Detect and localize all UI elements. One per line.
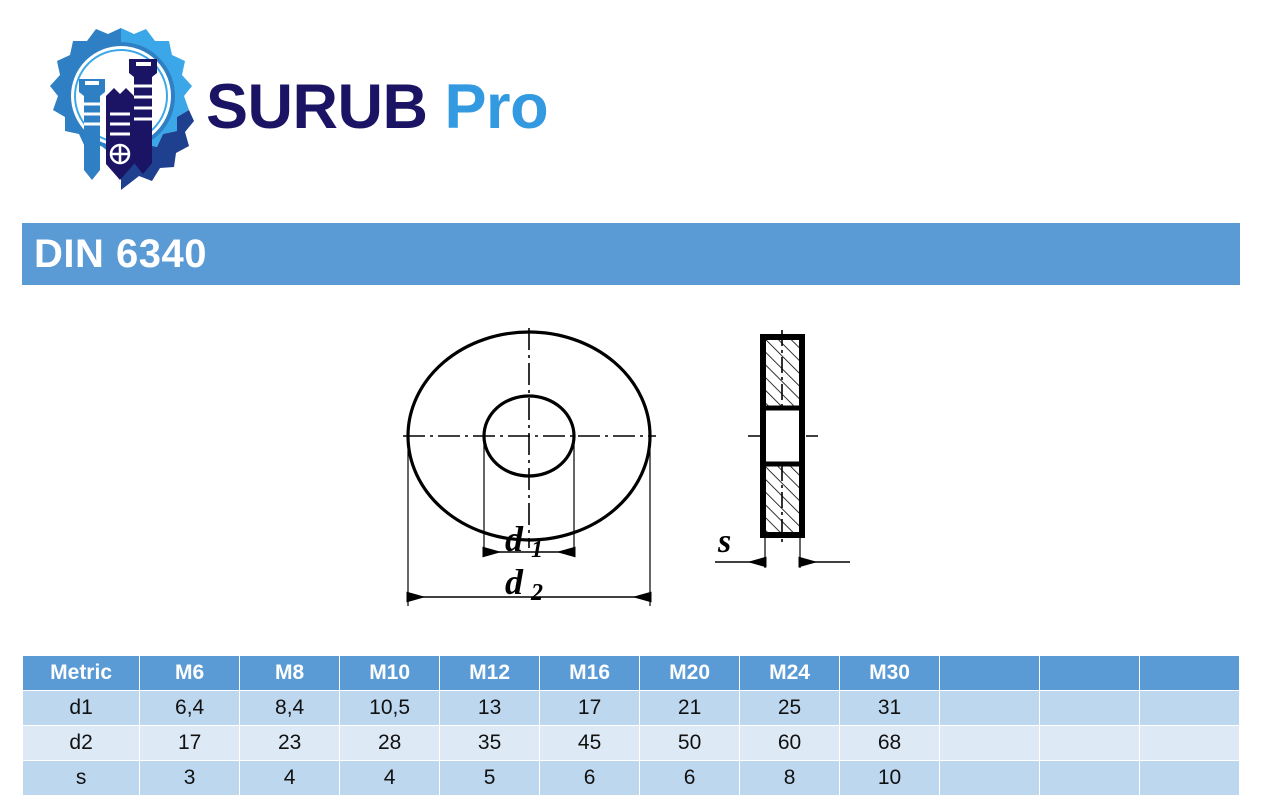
s-label: s	[717, 523, 731, 560]
table-cell: 31	[840, 691, 939, 725]
table-cell: 10,5	[340, 691, 439, 725]
gear-with-screws-icon	[42, 24, 200, 190]
table-header-cell	[1140, 656, 1239, 690]
table-cell: 10	[840, 761, 939, 795]
table-cell: 23	[240, 726, 339, 760]
table-cell: 35	[440, 726, 539, 760]
table-cell: 5	[440, 761, 539, 795]
brand-name-accent: Pro	[445, 72, 549, 142]
table-cell: 28	[340, 726, 439, 760]
table-header-cell	[1040, 656, 1139, 690]
table-header-cell: M12	[440, 656, 539, 690]
table-cell: 8	[740, 761, 839, 795]
row-label-cell: d1	[23, 691, 139, 725]
table-cell: 21	[640, 691, 739, 725]
table-header-cell: M30	[840, 656, 939, 690]
title-banner: DIN 6340	[22, 223, 1240, 285]
svg-text:1: 1	[531, 537, 543, 563]
table-cell: 17	[540, 691, 639, 725]
table-cell: 25	[740, 691, 839, 725]
table-cell: 6	[540, 761, 639, 795]
table-cell: 4	[340, 761, 439, 795]
table-header-row: Metric M6 M8 M10 M12 M16 M20 M24 M30	[23, 656, 1239, 690]
row-label-cell: d2	[23, 726, 139, 760]
table-cell: 50	[640, 726, 739, 760]
table-cell: 45	[540, 726, 639, 760]
table-cell	[940, 691, 1039, 725]
svg-text:2: 2	[530, 580, 543, 606]
screw-center-shield-icon	[106, 88, 134, 180]
table-header-cell: M20	[640, 656, 739, 690]
table-cell: 4	[240, 761, 339, 795]
brand-wordmark: SURUB Pro	[206, 76, 548, 139]
table-cell	[1140, 761, 1239, 795]
table-cell	[1040, 761, 1139, 795]
table-cell: 17	[140, 726, 239, 760]
table-row: d2 17 23 28 35 45 50 60 68	[23, 726, 1239, 760]
table-cell: 6,4	[140, 691, 239, 725]
svg-text:d: d	[505, 562, 524, 602]
table-cell: 60	[740, 726, 839, 760]
table-cell: 8,4	[240, 691, 339, 725]
row-label-cell: s	[23, 761, 139, 795]
table-cell	[940, 761, 1039, 795]
table-row: d1 6,4 8,4 10,5 13 17 21 25 31	[23, 691, 1239, 725]
table-cell	[1040, 691, 1139, 725]
table-cell: 3	[140, 761, 239, 795]
d2-label: d 2	[505, 562, 543, 606]
spec-table-container: Metric M6 M8 M10 M12 M16 M20 M24 M30 d1 …	[22, 655, 1240, 796]
spec-table: Metric M6 M8 M10 M12 M16 M20 M24 M30 d1 …	[22, 655, 1240, 796]
table-header-cell: M8	[240, 656, 339, 690]
page-title: DIN 6340	[22, 234, 207, 274]
table-header-cell: M24	[740, 656, 839, 690]
table-header-cell	[940, 656, 1039, 690]
table-cell	[1040, 726, 1139, 760]
side-view-section: s	[715, 330, 850, 568]
brand-name-primary: SURUB	[206, 72, 428, 142]
brand-header: SURUB Pro	[42, 22, 548, 192]
svg-text:d: d	[505, 519, 524, 559]
table-header-cell: Metric	[23, 656, 139, 690]
table-cell: 68	[840, 726, 939, 760]
table-row: s 3 4 4 5 6 6 8 10	[23, 761, 1239, 795]
table-cell: 6	[640, 761, 739, 795]
table-cell	[1140, 726, 1239, 760]
table-header-cell: M6	[140, 656, 239, 690]
technical-drawing: d 1 d 2	[0, 300, 1261, 630]
table-cell	[1140, 691, 1239, 725]
front-view-washer: d 1 d 2	[403, 328, 656, 606]
table-cell: 13	[440, 691, 539, 725]
table-header-cell: M16	[540, 656, 639, 690]
table-cell	[940, 726, 1039, 760]
table-header-cell: M10	[340, 656, 439, 690]
